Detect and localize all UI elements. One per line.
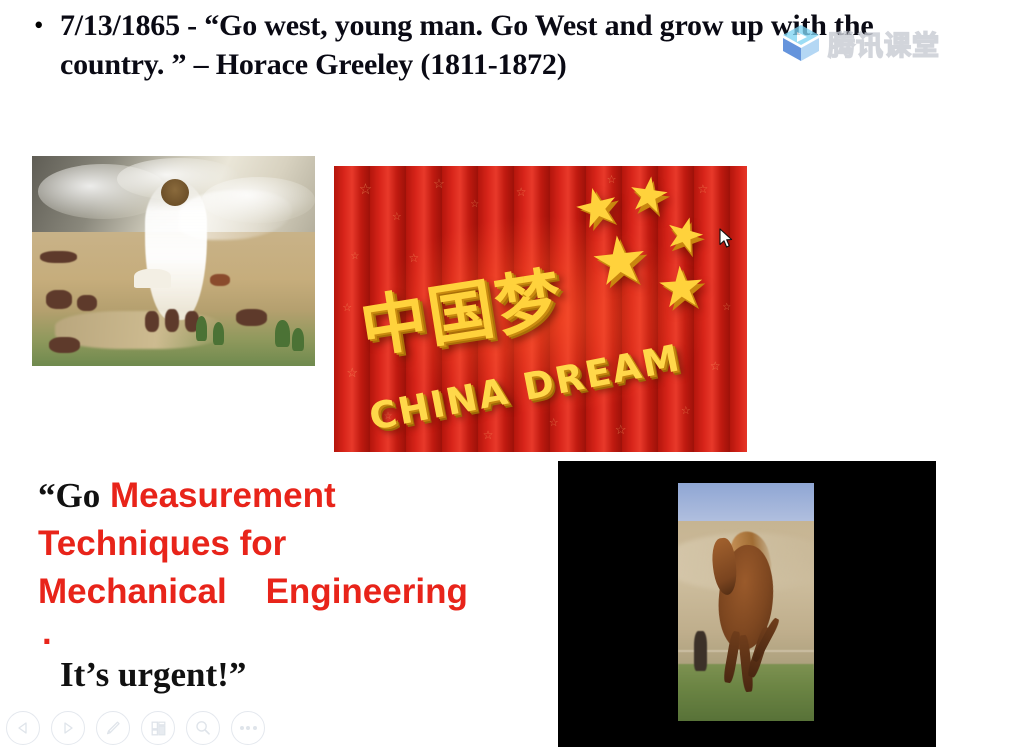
- galloping-horse-video[interactable]: [558, 461, 936, 747]
- quote-open-text: “: [38, 476, 56, 515]
- pen-tool-button[interactable]: [96, 711, 130, 745]
- star-outline-icon: ☆: [549, 418, 559, 429]
- star-outline-icon: ☆: [433, 177, 445, 190]
- quote-period: .: [38, 616, 548, 650]
- next-slide-button[interactable]: [51, 711, 85, 745]
- star-outline-icon: ☆: [342, 303, 352, 314]
- gold-star-icon: ★: [587, 226, 653, 298]
- star-outline-icon: ☆: [697, 183, 708, 195]
- bullet-point-icon: •: [30, 6, 60, 44]
- previous-slide-button[interactable]: [6, 711, 40, 745]
- star-outline-icon: ☆: [483, 429, 494, 441]
- star-outline-icon: ☆: [359, 183, 372, 198]
- presentation-slide: • 7/13/1865 - “Go west, young man. Go We…: [0, 0, 1011, 747]
- pen-icon: [104, 719, 122, 737]
- star-outline-icon: ☆: [346, 366, 358, 379]
- slide-header: • 7/13/1865 - “Go west, young man. Go We…: [30, 6, 980, 84]
- painting-horse: [77, 295, 97, 312]
- quote-go-word: Go: [56, 476, 101, 515]
- star-outline-icon: ☆: [351, 252, 360, 262]
- star-outline-icon: ☆: [722, 303, 731, 313]
- more-options-button[interactable]: [231, 711, 265, 745]
- painting-bison-herd: [40, 251, 77, 264]
- painting-shrub: [213, 322, 224, 345]
- grid-layout-icon: [150, 720, 167, 737]
- china-dream-banner: ☆ ☆ ☆ ☆ ☆ ☆ ☆ ☆ ☆ ☆ ☆ ☆ ☆ ☆ ☆ ☆ ☆ ☆ ★ ★ …: [334, 166, 747, 452]
- star-outline-icon: ☆: [516, 186, 527, 198]
- quote-red-1: Measurement: [110, 476, 336, 515]
- american-progress-painting: [32, 156, 315, 366]
- magnifier-icon: [194, 719, 212, 737]
- video-content: [678, 483, 814, 721]
- layout-grid-button[interactable]: [141, 711, 175, 745]
- painting-shrub: [292, 328, 303, 351]
- painting-ox: [236, 309, 267, 326]
- star-outline-icon: ☆: [615, 423, 627, 436]
- more-dots-icon: [240, 726, 257, 730]
- bottom-toolbar: [6, 711, 265, 745]
- painting-cabin: [210, 274, 230, 287]
- triangle-left-icon: [16, 721, 30, 735]
- painting-animal: [49, 337, 80, 354]
- quote-line-2: Techniques for: [38, 520, 548, 568]
- triangle-right-icon: [61, 721, 75, 735]
- quote-line-3: Mechanical Engineering: [38, 568, 548, 616]
- painting-covered-wagon: [134, 269, 171, 288]
- quote-block: “Go Measurement Techniques for Mechanica…: [38, 472, 548, 700]
- painting-shrub: [275, 320, 289, 347]
- star-outline-icon: ☆: [470, 200, 479, 210]
- gold-star-icon: ★: [624, 169, 673, 223]
- video-person: [694, 631, 706, 671]
- painting-settler: [145, 311, 159, 332]
- painting-settler: [165, 309, 179, 332]
- header-quote-text: 7/13/1865 - “Go west, young man. Go West…: [60, 6, 965, 84]
- painting-horse: [46, 290, 71, 309]
- gold-star-icon: ★: [654, 259, 708, 318]
- quote-line-1: “Go Measurement: [38, 472, 548, 520]
- quote-closing-line: It’s urgent!”: [38, 650, 548, 700]
- zoom-button[interactable]: [186, 711, 220, 745]
